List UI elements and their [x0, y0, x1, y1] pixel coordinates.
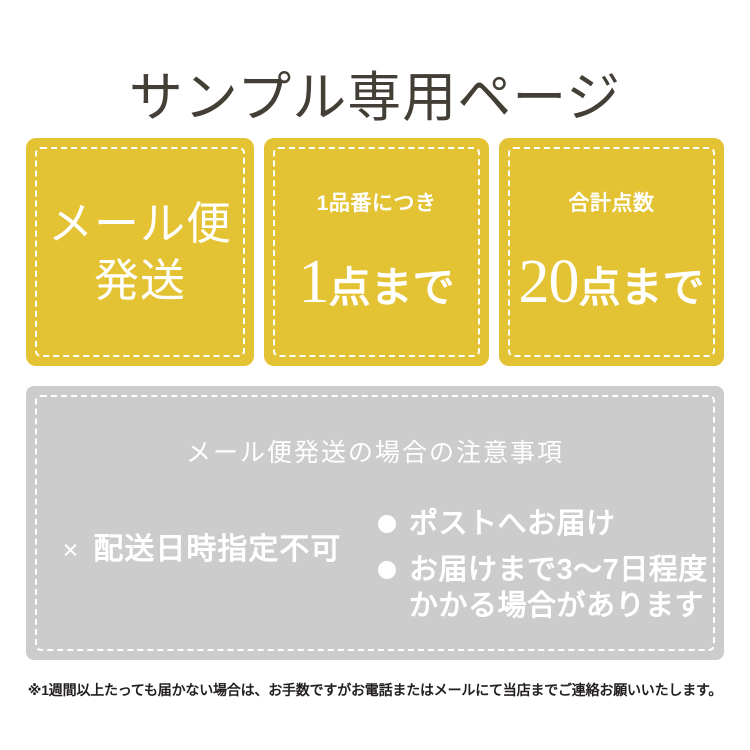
list-item-line-1: お届けまで3〜7日程度 — [409, 554, 708, 586]
feature-stacked-line-1: メール便 — [48, 195, 232, 252]
feature-value: 20 点まで — [518, 251, 704, 313]
notice-restriction-label: 配送日時指定不可 — [93, 532, 341, 568]
feature-stacked-text: メール便 発送 — [48, 195, 232, 309]
feature-box-total-limit: 合計点数 20 点まで — [499, 138, 724, 366]
bullet-dot-icon — [378, 515, 396, 533]
page-title: サンプル専用ページ — [0, 64, 750, 132]
notice-restriction: × 配送日時指定不可 — [26, 504, 378, 568]
feature-unit: 点まで — [328, 267, 454, 309]
list-item-line-2: かかる場合があります — [409, 590, 704, 622]
feature-box-row: メール便 発送 1品番につき 1 点まで 合計点数 20 点まで — [26, 138, 724, 366]
list-item-text: ポストへお届け — [409, 506, 616, 542]
list-item-text: お届けまで3〜7日程度 かかる場合があります — [409, 552, 708, 624]
notice-body: × 配送日時指定不可 ポストへお届け お届けまで3〜7日程度 かかる場合がありま… — [26, 504, 724, 634]
feature-heading: 合計点数 — [569, 191, 655, 217]
feature-unit: 点まで — [578, 267, 704, 309]
notice-title: メール便発送の場合の注意事項 — [26, 438, 724, 468]
notice-panel: メール便発送の場合の注意事項 × 配送日時指定不可 ポストへお届け お届けまで3… — [26, 386, 724, 660]
feature-stacked-line-2: 発送 — [48, 252, 232, 309]
notice-bullet-list: ポストへお届け お届けまで3〜7日程度 かかる場合があります — [378, 504, 724, 634]
bullet-dot-icon — [378, 561, 396, 579]
feature-box-per-item-limit: 1品番につき 1 点まで — [264, 138, 489, 366]
feature-box-shipping-method: メール便 発送 — [26, 138, 254, 366]
cross-mark-icon: × — [63, 532, 80, 568]
list-item: ポストへお届け — [378, 506, 724, 542]
feature-heading: 1品番につき — [317, 191, 437, 217]
feature-number: 1 — [298, 251, 328, 313]
sample-page-banner: サンプル専用ページ メール便 発送 1品番につき 1 点まで 合計点数 20 点… — [0, 0, 750, 750]
footnote: ※1週間以上たっても届かない場合は、お手数ですがお電話またはメールにて当店までご… — [0, 680, 750, 700]
list-item: お届けまで3〜7日程度 かかる場合があります — [378, 552, 724, 624]
feature-value: 1 点まで — [298, 251, 454, 313]
feature-number: 20 — [518, 251, 578, 313]
list-item-line-1: ポストへお届け — [409, 508, 616, 540]
